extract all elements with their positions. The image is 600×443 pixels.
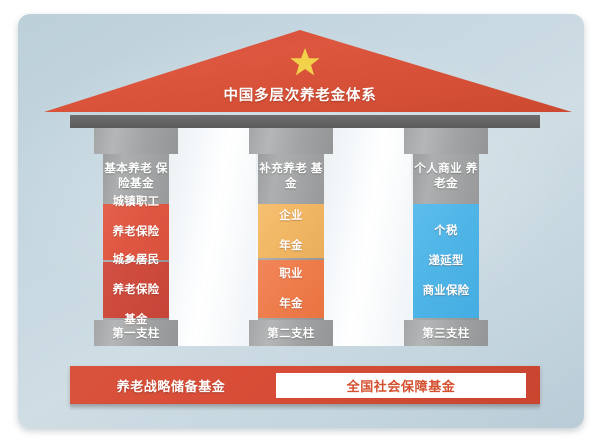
- foundation-shadow: [70, 404, 540, 411]
- pillar-one-title: 基本养老 保险基金: [103, 161, 169, 191]
- pillar-one[interactable]: 基本养老 保险基金 城镇职工 养老保险 基金 城乡居民 养老保险 基金 第一支柱: [94, 128, 178, 346]
- diagram-title: 中国多层次养老金体系: [0, 84, 600, 105]
- foundation-band: 养老战略储备基金 全国社会保障基金: [70, 366, 540, 404]
- column-capital: [249, 128, 333, 154]
- pillar-one-title-line-1: 基本养老: [104, 162, 152, 175]
- pillar-three[interactable]: 个人商业 养老金 个税 递延型 商业保险 第三支柱: [404, 128, 488, 346]
- block-line-1: 城镇职工: [103, 195, 169, 210]
- block-line-2: 养老保险: [103, 283, 169, 298]
- block-enterprise-annuity[interactable]: 企业 年金: [258, 204, 324, 258]
- block-tax-deferred-commercial-insurance[interactable]: 个税 递延型 商业保险: [413, 204, 479, 318]
- pillar-three-title: 个人商业 养老金: [413, 161, 479, 191]
- pillar-two-label: 第二支柱: [249, 325, 333, 341]
- block-line-2: 养老保险: [103, 225, 169, 240]
- column-capital: [404, 128, 488, 154]
- block-line-1: 职业: [258, 267, 324, 282]
- strategic-reserve-fund-label: 养老战略储备基金: [70, 376, 272, 395]
- national-social-security-fund-box[interactable]: 全国社会保障基金: [276, 373, 526, 398]
- pillar-two-title: 补充养老 基金: [258, 161, 324, 191]
- pillar-two[interactable]: 补充养老 基金 企业 年金 职业 年金 第二支柱: [249, 128, 333, 346]
- pillar-three-title-line-1: 个人商业: [414, 162, 462, 175]
- block-line-2: 年金: [258, 239, 324, 254]
- block-urban-rural-resident-fund[interactable]: 城乡居民 养老保险 基金: [103, 262, 169, 318]
- block-line-1: 企业: [258, 209, 324, 224]
- block-line-3: 商业保险: [413, 284, 479, 299]
- diagram-canvas: 中国多层次养老金体系 基本养老 保险基金 城镇职工 养老保险 基金 城乡居民 养…: [0, 0, 600, 443]
- block-line-2: 递延型: [413, 254, 479, 269]
- pillar-one-label: 第一支柱: [94, 325, 178, 341]
- pillar-three-label: 第三支柱: [404, 325, 488, 341]
- block-line-1: 个税: [413, 224, 479, 239]
- block-line-1: 城乡居民: [103, 253, 169, 268]
- block-line-2: 年金: [258, 297, 324, 312]
- entablature-beam: [70, 115, 540, 128]
- pillar-two-title-line-1: 补充养老: [259, 162, 307, 175]
- block-occupational-annuity[interactable]: 职业 年金: [258, 260, 324, 318]
- column-capital: [94, 128, 178, 154]
